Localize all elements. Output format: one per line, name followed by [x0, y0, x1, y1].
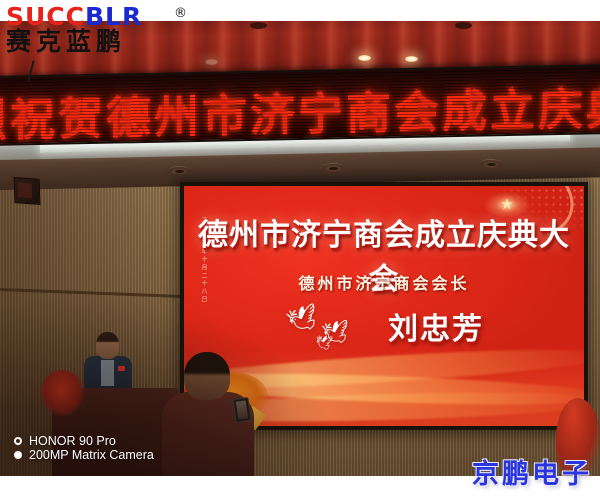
- ceiling-spotlight-3: [205, 59, 218, 65]
- ceiling-spotlight-1: [358, 55, 371, 61]
- recessed-downlight-1: [168, 166, 190, 176]
- circle-outline-icon: [14, 437, 22, 445]
- led-ticker-band: 烈祝贺德州市济宁商会成立庆典: [0, 64, 600, 146]
- screen-subtitle: 德州市济宁商会会长: [184, 270, 584, 294]
- honor-camera-watermark: HONOR 90 Pro 200MP Matrix Camera: [14, 434, 154, 462]
- brand-watermark: 京鹏电子: [472, 452, 592, 491]
- honor-model-text: HONOR 90 Pro: [29, 434, 116, 448]
- logo-text-succ: SUCC: [6, 2, 85, 31]
- recessed-downlight-3: [480, 159, 502, 169]
- ceiling-fixture-dark-1: [250, 22, 267, 29]
- honor-camera-text: 200MP Matrix Camera: [29, 448, 154, 462]
- logo-chinese-wordmark: 赛克蓝鹏: [6, 28, 142, 56]
- speaker-lapel-badge: [118, 366, 125, 371]
- logo-english-wordmark: SUCCBLR: [6, 4, 142, 30]
- circle-filled-icon: [14, 451, 22, 459]
- company-logo: SUCCBLR ® 赛克蓝鹏: [6, 4, 142, 56]
- honor-watermark-line-2: 200MP Matrix Camera: [14, 448, 154, 462]
- logo-text-blr: BLR: [85, 2, 142, 31]
- registered-trademark-icon: ®: [174, 6, 187, 21]
- screen-name-row: 🕊 🕊 🕊 刘忠芳: [184, 304, 584, 348]
- screen-speaker-name: 刘忠芳: [388, 304, 484, 348]
- speaker-head: [96, 332, 119, 359]
- dove-graphics: 🕊 🕊 🕊: [284, 306, 370, 346]
- flower-bouquet-left: [40, 370, 84, 416]
- wall-mounted-speaker: [14, 177, 41, 205]
- led-ticker-text: 烈祝贺德州市济宁商会成立庆典: [0, 72, 600, 146]
- dove-icon-1: 🕊: [285, 304, 322, 336]
- speaker-shirt: [101, 360, 114, 386]
- ceiling-fixture-dark-2: [455, 22, 472, 29]
- recessed-downlight-2: [322, 163, 344, 173]
- person-filming-foreground: [162, 352, 254, 480]
- smartphone-recording: [232, 397, 251, 423]
- honor-watermark-line-1: HONOR 90 Pro: [14, 434, 154, 448]
- event-photo-stage: 烈祝贺德州市济宁商会成立庆典 二〇二三年十月二十八日 德州市济宁商会成立庆典大会…: [0, 0, 600, 500]
- ceiling-spotlight-2: [405, 56, 418, 62]
- foreground-person-head: [184, 352, 230, 400]
